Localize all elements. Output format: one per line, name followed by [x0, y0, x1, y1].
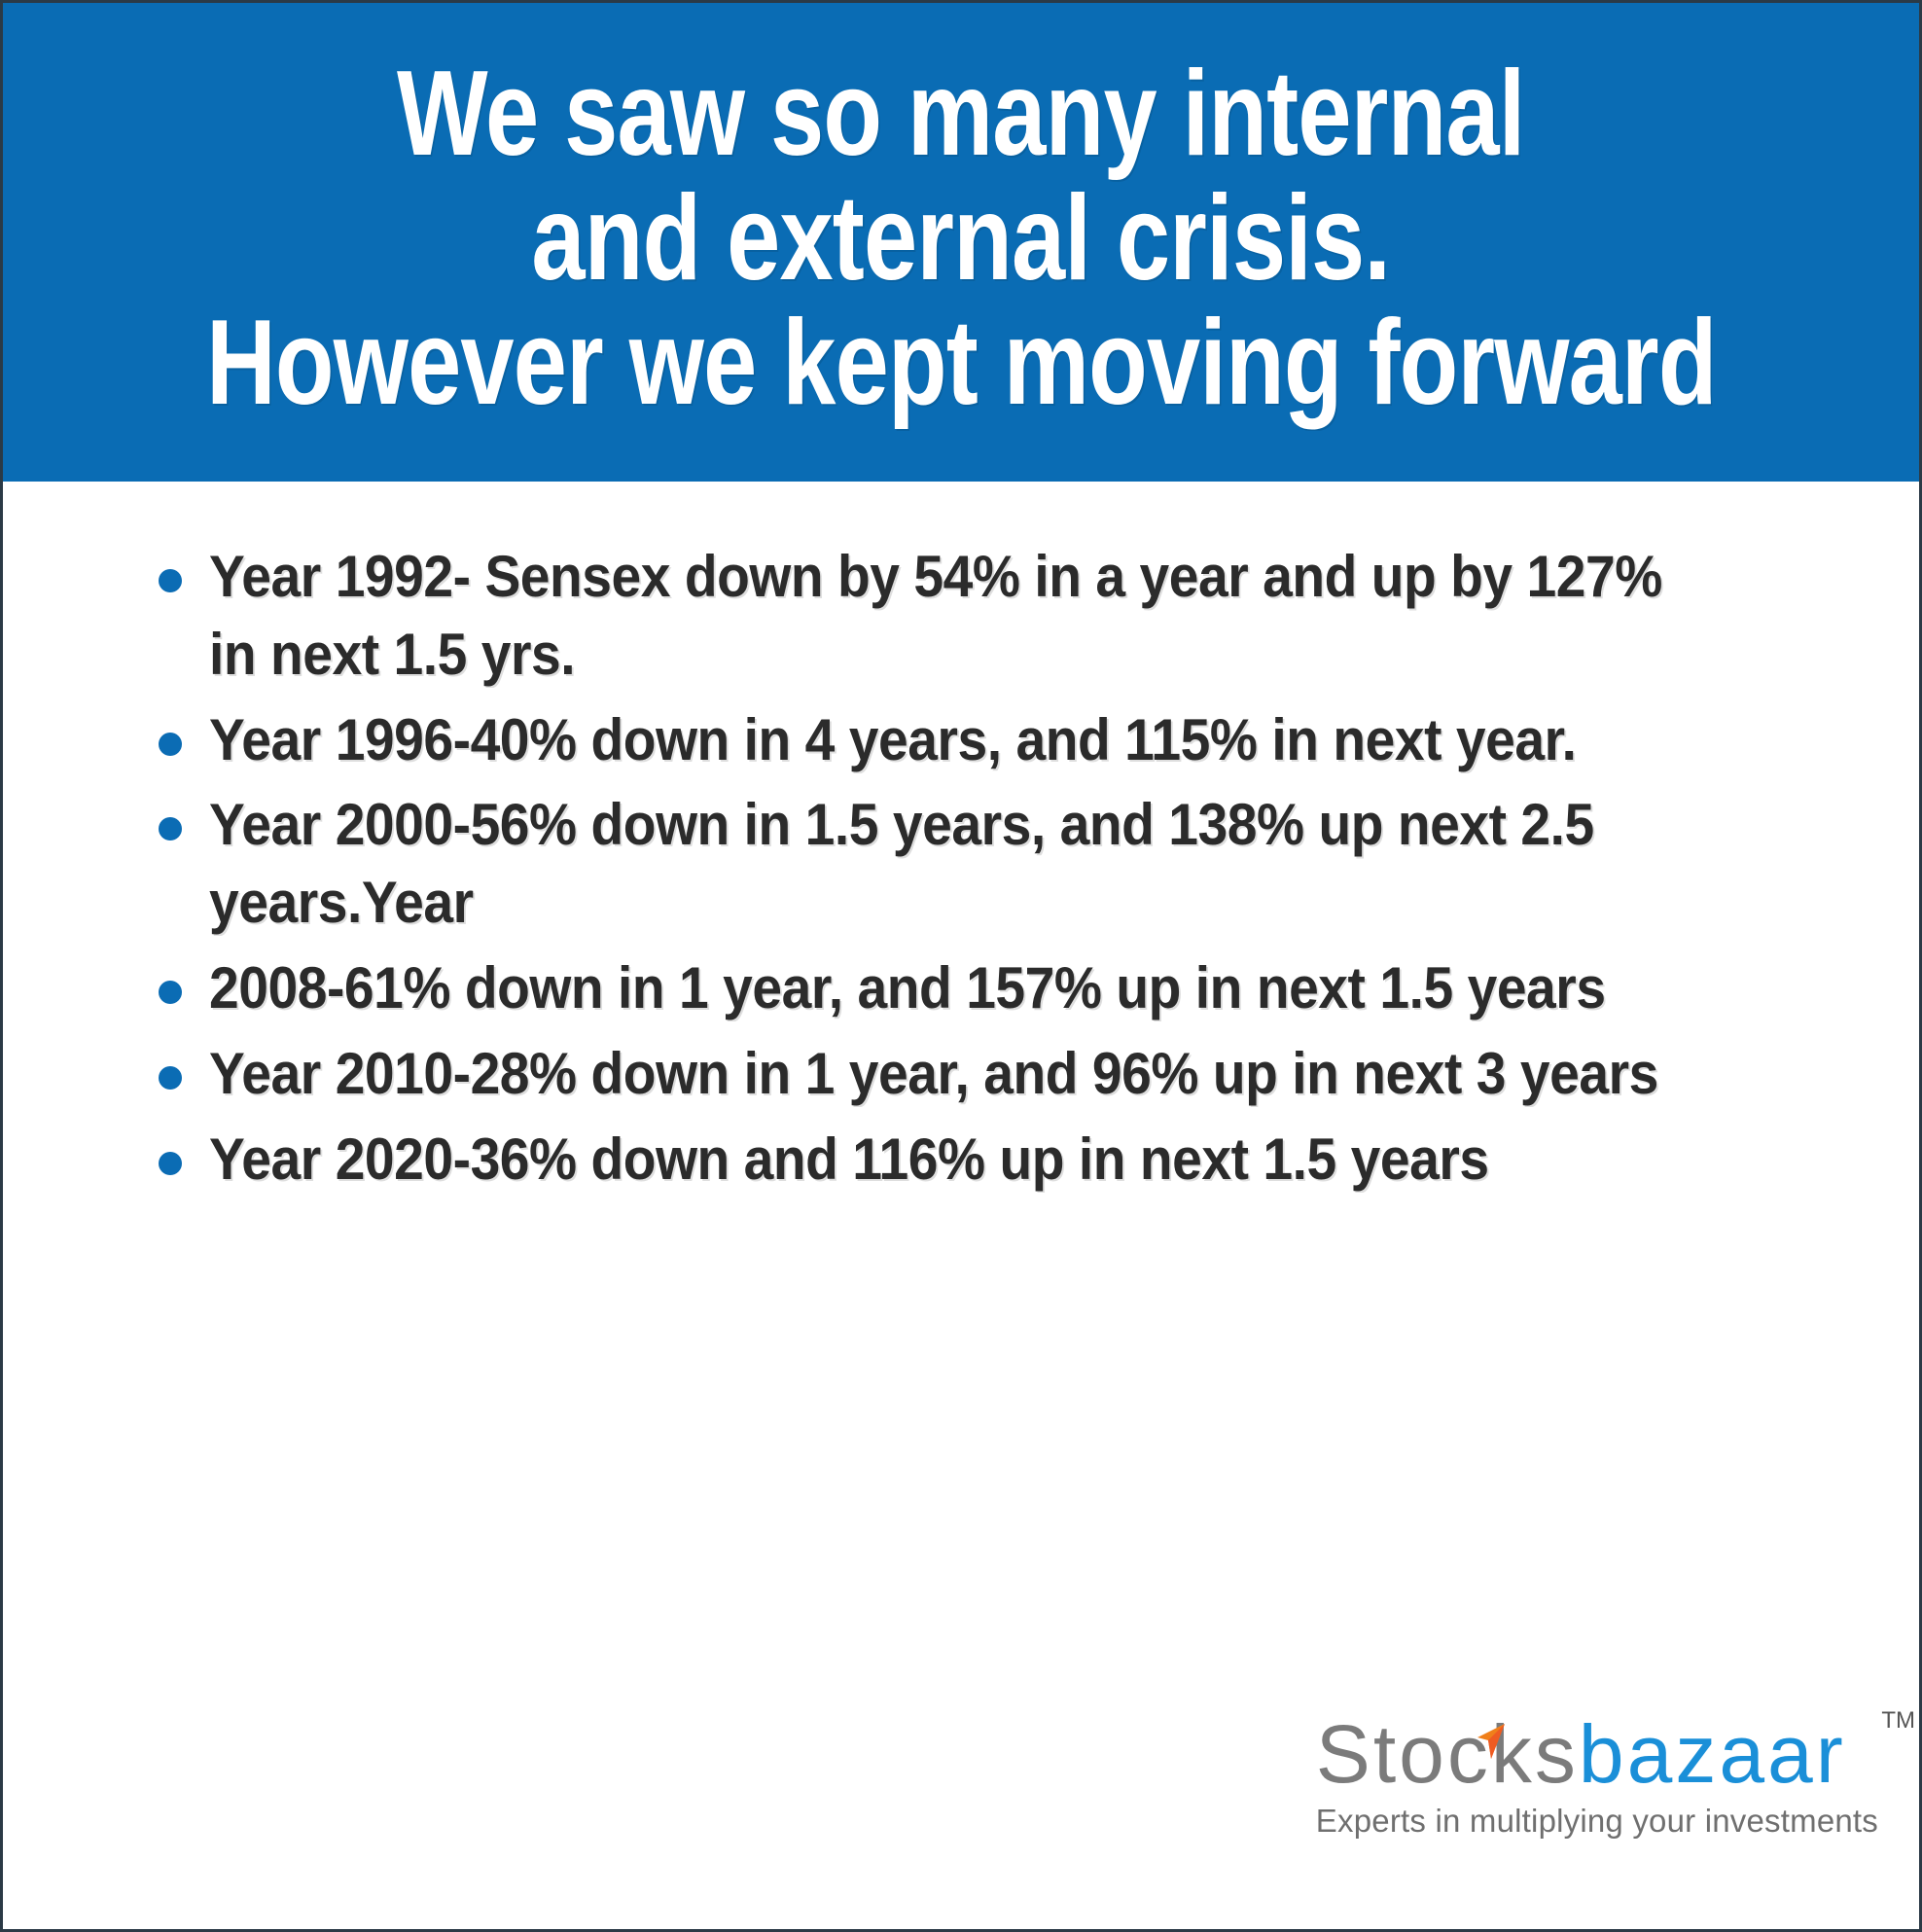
body-content: Year 1992- Sensex down by 54% in a year …	[3, 482, 1919, 1929]
bullet-dot-icon	[159, 1066, 182, 1090]
crisis-bullet-list: Year 1992- Sensex down by 54% in a year …	[149, 538, 1841, 1205]
list-item-text: Year 2000-56% down in 1.5 years, and 138…	[209, 786, 1711, 942]
list-item-text: Year 1992- Sensex down by 54% in a year …	[209, 538, 1711, 694]
poster-canvas: We saw so many internal and external cri…	[0, 0, 1922, 1932]
trademark-symbol: TM	[1881, 1709, 1915, 1733]
bullet-dot-icon	[159, 569, 182, 592]
bullet-dot-icon	[159, 981, 182, 1004]
list-item: Year 1996-40% down in 4 years, and 115% …	[149, 701, 1841, 779]
logo-word-stocks: Stocks	[1316, 1708, 1579, 1800]
list-item: Year 2010-28% down in 1 year, and 96% up…	[149, 1035, 1841, 1113]
list-item-text: Year 2020-36% down and 116% up in next 1…	[209, 1121, 1711, 1199]
list-item: Year 2020-36% down and 116% up in next 1…	[149, 1121, 1841, 1199]
header-line-1: We saw so many internal	[397, 53, 1525, 177]
stocksbazaar-logo: Stocksbazaar TM Experts in multiplying y…	[1316, 1713, 1878, 1840]
logo-word-bazaar: bazaar	[1579, 1708, 1846, 1800]
bullet-dot-icon	[159, 1152, 182, 1175]
list-item-text: 2008-61% down in 1 year, and 157% up in …	[209, 949, 1711, 1027]
header-banner: We saw so many internal and external cri…	[3, 3, 1919, 482]
header-line-3: However we kept moving forward	[206, 302, 1717, 426]
list-item-text: Year 1996-40% down in 4 years, and 115% …	[209, 701, 1711, 779]
list-item: Year 1992- Sensex down by 54% in a year …	[149, 538, 1841, 694]
logo-wordmark: Stocksbazaar TM	[1316, 1713, 1878, 1795]
bullet-dot-icon	[159, 733, 182, 756]
list-item: Year 2000-56% down in 1.5 years, and 138…	[149, 786, 1841, 942]
logo-tagline: Experts in multiplying your investments	[1316, 1803, 1878, 1840]
arrow-cursor-icon	[1476, 1692, 1509, 1731]
bullet-dot-icon	[159, 817, 182, 841]
list-item-text: Year 2010-28% down in 1 year, and 96% up…	[209, 1035, 1711, 1113]
header-line-2: and external crisis.	[532, 177, 1391, 302]
list-item: 2008-61% down in 1 year, and 157% up in …	[149, 949, 1841, 1027]
